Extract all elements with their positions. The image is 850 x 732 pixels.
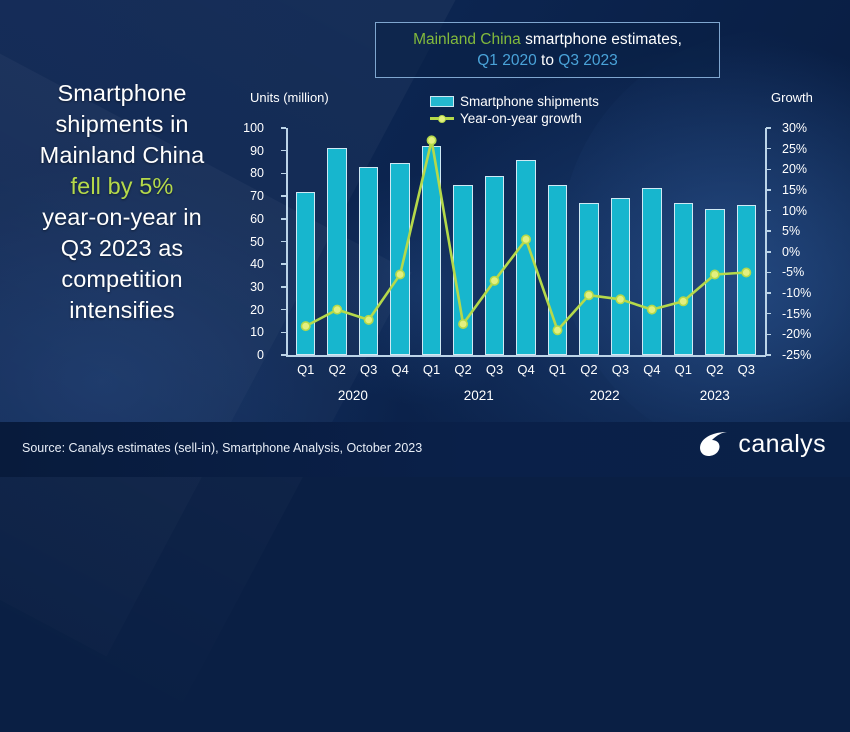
chart-title-line-2: Q1 2020 to Q3 2023 — [477, 50, 617, 71]
legend-item-shipments: Smartphone shipments — [430, 94, 599, 109]
y-tick-right — [766, 127, 771, 129]
y-tick-label-left: 50 — [224, 236, 264, 249]
legend-bar-swatch-icon — [430, 96, 454, 107]
y-tick-label-left: 10 — [224, 326, 264, 339]
y-tick-label-left: 70 — [224, 190, 264, 203]
headline-highlight: fell by 5% — [6, 171, 238, 202]
y-tick-left — [281, 173, 286, 175]
headline-line-3: Mainland China — [6, 140, 238, 171]
source-note: Source: Canalys estimates (sell-in), Sma… — [22, 441, 422, 455]
y-tick-right — [766, 230, 771, 232]
x-axis-year-label: 2023 — [670, 388, 760, 403]
canalys-logo: canalys — [697, 429, 826, 459]
chart-title-rest: smartphone estimates, — [521, 31, 682, 48]
growth-marker[interactable]: Q1: 27% — [427, 136, 435, 144]
plot-area: 0102030405060708090100 -25%-20%-15%-10%-… — [290, 128, 762, 355]
growth-marker[interactable]: Q2: -10.5% — [585, 291, 593, 299]
y-tick-right — [766, 251, 771, 253]
headline-line-8: intensifies — [6, 295, 238, 326]
y-tick-label-right: -5% — [782, 266, 826, 279]
y-tick-left — [281, 150, 286, 152]
x-tick-label-quarter: Q3 — [726, 362, 766, 377]
y-tick-label-right: -10% — [782, 287, 826, 300]
y-tick-left — [281, 332, 286, 334]
y-tick-right — [766, 148, 771, 150]
legend-label-growth: Year-on-year growth — [460, 111, 582, 126]
y-tick-label-right: 15% — [782, 184, 826, 197]
y-tick-label-left: 60 — [224, 213, 264, 226]
chart-title-box: Mainland China smartphone estimates, Q1 … — [375, 22, 720, 78]
chart-title-region: Mainland China — [413, 31, 521, 48]
y-tick-label-right: -15% — [782, 308, 826, 321]
y-tick-label-right: 0% — [782, 246, 826, 259]
growth-marker[interactable]: Q4: -5.5% — [396, 270, 404, 278]
headline-line-2: shipments in — [6, 109, 238, 140]
growth-marker[interactable]: Q3: -5% — [742, 268, 750, 276]
y-axis-title-left: Units (million) — [250, 90, 329, 105]
y-axis-right — [765, 128, 767, 355]
y-tick-left — [281, 309, 286, 311]
canalys-wordmark: canalys — [738, 430, 826, 459]
y-tick-left — [281, 263, 286, 265]
headline-text: Smartphone shipments in Mainland China f… — [6, 78, 238, 326]
y-tick-left — [281, 127, 286, 129]
y-tick-label-right: -25% — [782, 349, 826, 362]
x-axis-year-label: 2020 — [308, 388, 398, 403]
y-tick-label-left: 40 — [224, 258, 264, 271]
y-tick-left — [281, 218, 286, 220]
y-tick-right — [766, 272, 771, 274]
legend-line-marker-icon — [430, 113, 454, 124]
growth-marker[interactable]: Q3: -11.5% — [616, 295, 624, 303]
y-tick-left — [281, 286, 286, 288]
y-tick-left — [281, 195, 286, 197]
y-tick-right — [766, 313, 771, 315]
x-axis-labels: Q1Q2Q3Q4Q1Q2Q3Q4Q1Q2Q3Q4Q1Q2Q32020202120… — [290, 362, 762, 414]
y-tick-label-left: 90 — [224, 145, 264, 158]
y-tick-label-left: 30 — [224, 281, 264, 294]
growth-marker[interactable]: Q2: -5.5% — [711, 270, 719, 278]
y-tick-right — [766, 189, 771, 191]
chart-title-period-sep: to — [537, 52, 559, 69]
growth-marker[interactable]: Q4: -14% — [648, 305, 656, 313]
y-tick-label-right: 30% — [782, 122, 826, 135]
legend-item-growth: Year-on-year growth — [430, 111, 599, 126]
y-axis-title-right: Growth — [771, 90, 813, 105]
x-axis-year-label: 2021 — [434, 388, 524, 403]
y-axis-left — [286, 128, 288, 355]
growth-marker[interactable]: Q2: -17.5% — [459, 320, 467, 328]
canalys-mark-icon — [697, 429, 731, 459]
growth-line-series: Q1: -18%Q2: -14%Q3: -16.5%Q4: -5.5%Q1: 2… — [290, 128, 762, 355]
growth-marker[interactable]: Q4: 3% — [522, 235, 530, 243]
y-tick-label-right: -20% — [782, 328, 826, 341]
y-tick-label-right: 25% — [782, 143, 826, 156]
headline-line-1: Smartphone — [6, 78, 238, 109]
y-tick-right — [766, 334, 771, 336]
y-tick-label-right: 20% — [782, 163, 826, 176]
y-tick-right — [766, 210, 771, 212]
y-tick-left — [281, 354, 286, 356]
chart-title-line-1: Mainland China smartphone estimates, — [413, 29, 682, 50]
chart-legend: Smartphone shipments Year-on-year growth — [430, 94, 599, 126]
chart-title-period-end: Q3 2023 — [558, 52, 617, 69]
headline-line-5: year-on-year in — [6, 202, 238, 233]
y-tick-right — [766, 169, 771, 171]
y-tick-label-right: 5% — [782, 225, 826, 238]
growth-marker[interactable]: Q1: -18% — [302, 322, 310, 330]
y-tick-label-left: 80 — [224, 167, 264, 180]
headline-line-7: competition — [6, 264, 238, 295]
growth-marker[interactable]: Q1: -12% — [679, 297, 687, 305]
growth-marker[interactable]: Q2: -14% — [333, 305, 341, 313]
chart-title-period-start: Q1 2020 — [477, 52, 536, 69]
x-axis-year-label: 2022 — [560, 388, 650, 403]
y-tick-label-left: 20 — [224, 304, 264, 317]
y-tick-right — [766, 292, 771, 294]
legend-label-shipments: Smartphone shipments — [460, 94, 599, 109]
growth-markers: Q1: -18%Q2: -14%Q3: -16.5%Q4: -5.5%Q1: 2… — [302, 136, 751, 334]
y-tick-right — [766, 354, 771, 356]
x-axis-line — [286, 355, 766, 357]
growth-marker[interactable]: Q1: -19% — [553, 326, 561, 334]
y-tick-label-right: 10% — [782, 205, 826, 218]
y-tick-label-left: 100 — [224, 122, 264, 135]
chart-poster: Smartphone shipments in Mainland China f… — [0, 0, 850, 477]
growth-marker[interactable]: Q3: -7% — [490, 277, 498, 285]
headline-line-6: Q3 2023 as — [6, 233, 238, 264]
y-tick-left — [281, 241, 286, 243]
y-tick-label-left: 0 — [224, 349, 264, 362]
growth-marker[interactable]: Q3: -16.5% — [365, 316, 373, 324]
